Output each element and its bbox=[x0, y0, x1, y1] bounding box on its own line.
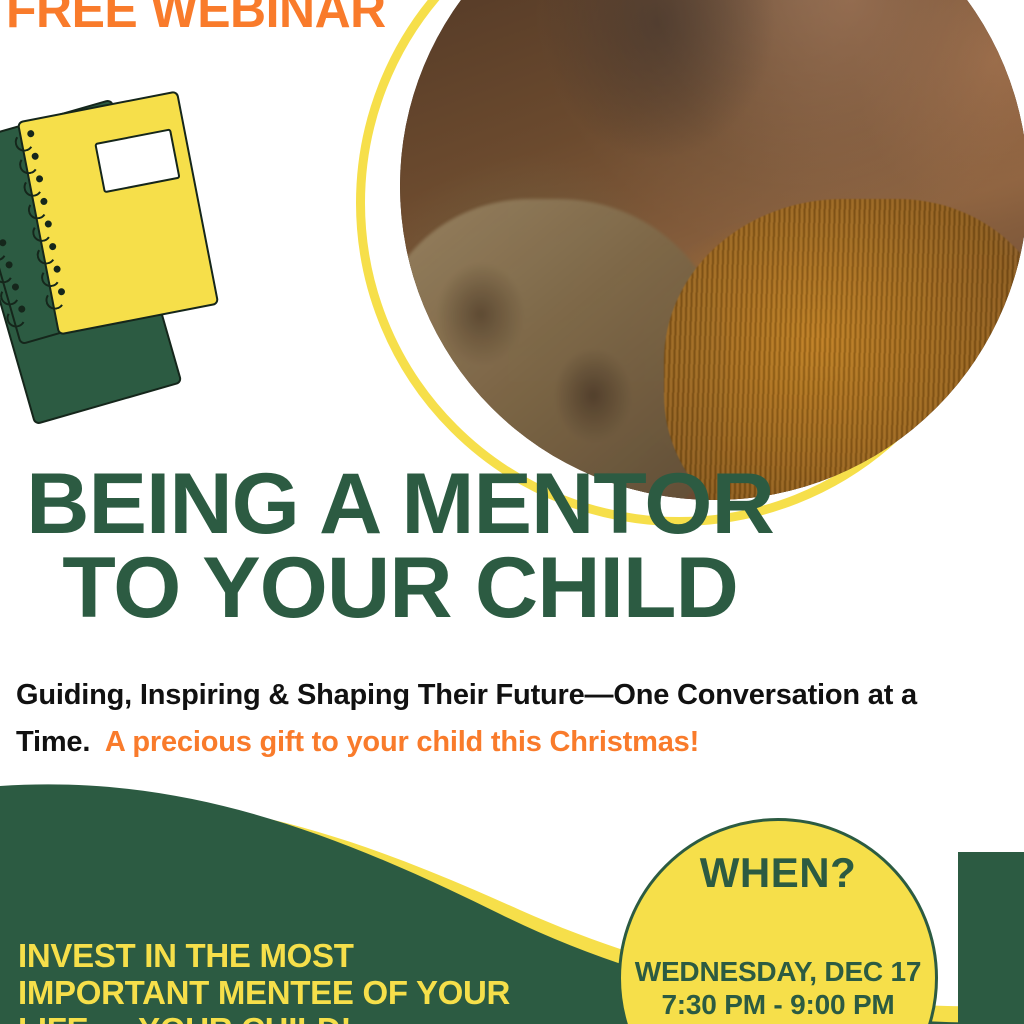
poster-subtitle: Guiding, Inspiring & Shaping Their Futur… bbox=[16, 672, 1006, 766]
headline-line-2: TO YOUR CHILD bbox=[0, 546, 808, 630]
poster-headline: BEING A MENTOR TO YOUR CHILD bbox=[0, 462, 800, 631]
headline-line-1: BEING A MENTOR bbox=[0, 462, 808, 546]
bottom-copy-line-2: IMPORTANT MENTEE OF YOUR bbox=[18, 975, 618, 1012]
knit-sweater-detail bbox=[664, 199, 1024, 500]
spiral-notebooks-illustration bbox=[2, 96, 302, 396]
notebook-label-box bbox=[95, 129, 181, 194]
when-badge-date: WEDNESDAY, DEC 17 bbox=[621, 955, 935, 988]
bottom-copy-line-3: LIFE — YOUR CHILD! bbox=[18, 1012, 618, 1024]
bottom-copy-line-1: INVEST IN THE MOST bbox=[18, 938, 618, 975]
spiral-coil bbox=[0, 262, 15, 286]
spiral-coil bbox=[0, 218, 2, 242]
when-badge-time: 7:30 PM - 9:00 PM bbox=[621, 988, 935, 1021]
notebook-yellow bbox=[17, 90, 220, 335]
green-right-edge bbox=[958, 852, 1024, 1024]
spiral-coil bbox=[0, 240, 9, 264]
hero-photo-circle bbox=[400, 0, 1024, 500]
when-badge-title: WHEN? bbox=[621, 849, 935, 897]
bottom-call-to-action: INVEST IN THE MOST IMPORTANT MENTEE OF Y… bbox=[18, 938, 618, 1024]
when-badge: WHEN? WEDNESDAY, DEC 17 7:30 PM - 9:00 P… bbox=[618, 818, 938, 1024]
subtitle-accent: A precious gift to your child this Chris… bbox=[105, 726, 699, 758]
webinar-poster: FREE WEBINAR bbox=[0, 0, 1024, 1024]
free-webinar-eyebrow: FREE WEBINAR bbox=[6, 0, 386, 36]
